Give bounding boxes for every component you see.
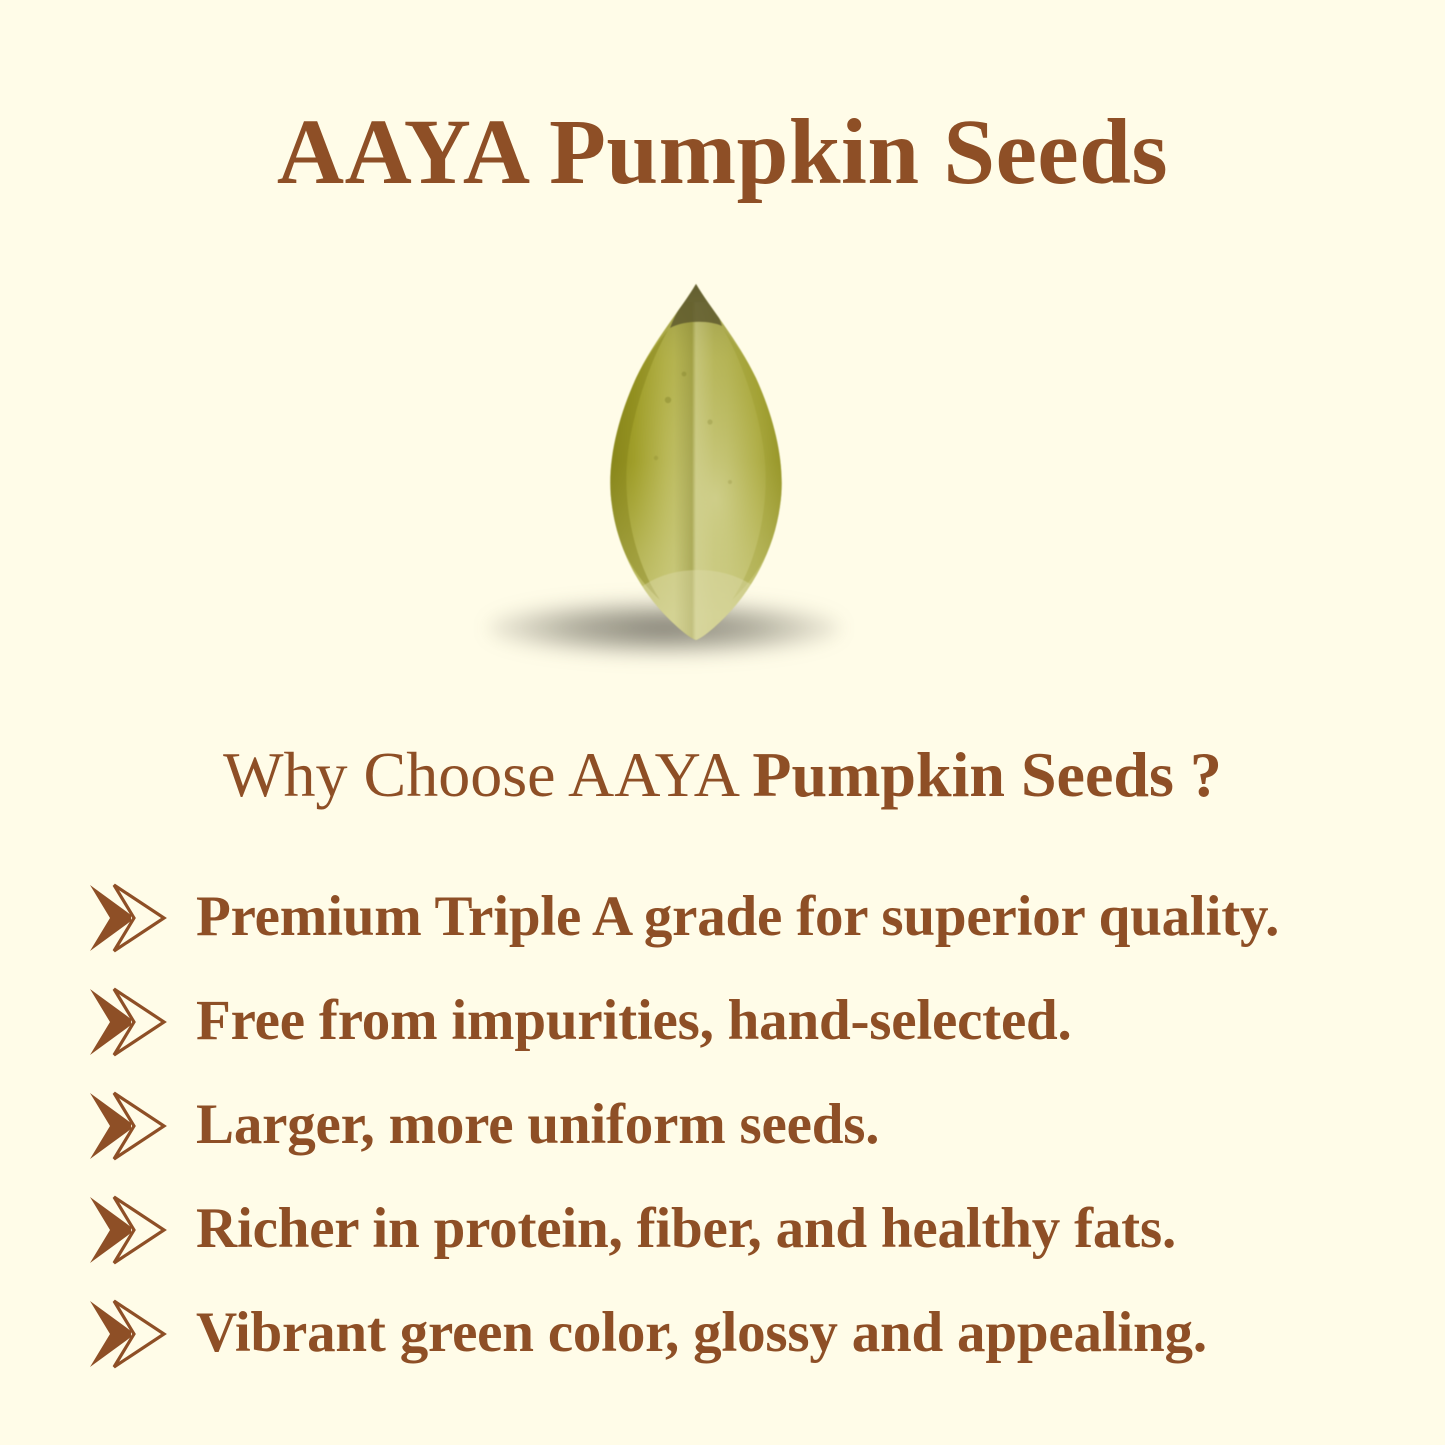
list-item: Vibrant green color, glossy and appealin… (0, 1282, 1445, 1386)
section-heading-regular: Why Choose AAYA (223, 739, 752, 810)
benefit-text: Richer in protein, fiber, and healthy fa… (196, 1200, 1176, 1261)
list-item: Richer in protein, fiber, and healthy fa… (0, 1178, 1445, 1282)
section-heading: Why Choose AAYA Pumpkin Seeds ? (0, 740, 1445, 810)
double-chevron-arrow-icon (88, 882, 168, 954)
product-info-card: AAYA Pumpkin Seeds (0, 0, 1445, 1445)
list-item: Free from impurities, hand-selected. (0, 970, 1445, 1074)
pumpkin-seed-icon (598, 282, 794, 642)
section-heading-bold: Pumpkin Seeds ? (752, 739, 1221, 810)
page-title: AAYA Pumpkin Seeds (0, 104, 1445, 202)
benefit-text: Premium Triple A grade for superior qual… (196, 888, 1279, 949)
benefit-text: Vibrant green color, glossy and appealin… (196, 1304, 1207, 1365)
double-chevron-arrow-icon (88, 986, 168, 1058)
list-item: Larger, more uniform seeds. (0, 1074, 1445, 1178)
benefits-list: Premium Triple A grade for superior qual… (0, 866, 1445, 1386)
double-chevron-arrow-icon (88, 1090, 168, 1162)
benefit-text: Larger, more uniform seeds. (196, 1096, 879, 1157)
double-chevron-arrow-icon (88, 1194, 168, 1266)
benefit-text: Free from impurities, hand-selected. (196, 992, 1072, 1053)
list-item: Premium Triple A grade for superior qual… (0, 866, 1445, 970)
double-chevron-arrow-icon (88, 1298, 168, 1370)
hero-seed-figure (430, 262, 1010, 662)
